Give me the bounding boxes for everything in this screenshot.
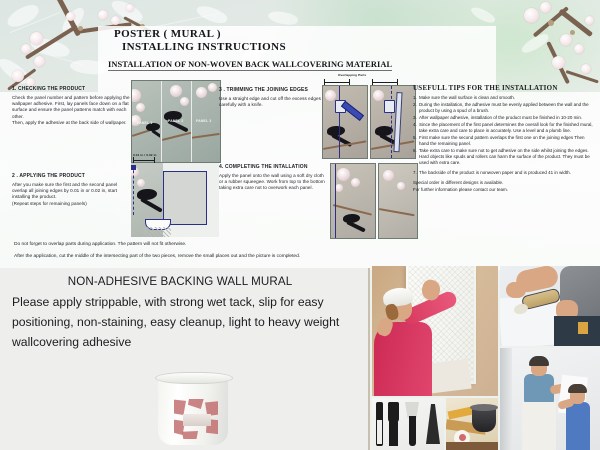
- step-2-body: After you make sure the first and the se…: [12, 182, 128, 207]
- photo-adhesive-mixing: [446, 398, 498, 450]
- tips-heading: USEFULL TIPS FOR THE INSTALLATION: [413, 84, 593, 92]
- step-3-illustration-left: [322, 85, 368, 159]
- step-4-body: Apply the panel onto the wall using a so…: [219, 173, 327, 192]
- step-1-heading: 1. CHECKING THE PRODUCT: [12, 86, 130, 92]
- panel-1-label: PANEL 1: [137, 121, 152, 125]
- photo-woman-hanging-wallpaper: [372, 266, 498, 396]
- adhesive-bucket-icon: [155, 372, 231, 446]
- step-3-illustration-right: [370, 85, 416, 159]
- tips-section: USEFULL TIPS FOR THE INSTALLATION 1.Make…: [413, 84, 593, 193]
- step-3-body: Use a straight edge and cut off the exce…: [219, 96, 323, 109]
- step-3: 3 . TRIMMING THE JOINING EDGES Use a str…: [219, 87, 323, 108]
- note-line-1: Do not forget to overlap parts during ap…: [14, 242, 434, 248]
- step-1: 1. CHECKING THE PRODUCT Check the panel …: [12, 86, 130, 126]
- poster-image: POSTER ( MURAL ) INSTALLING INSTRUCTIONS…: [0, 0, 600, 450]
- photo-man-and-child: [500, 348, 600, 450]
- overlapping-parts-label: Overlapping Parts: [338, 73, 366, 77]
- step-4: 4. COMPLETING THE INTALLATION Apply the …: [219, 164, 327, 192]
- step-2: 2 . APPLYING THE PRODUCT After you make …: [12, 173, 128, 207]
- note-line-2: After the application, cut the middle of…: [14, 254, 574, 260]
- tip-item: 7.The backside of the product is nonwove…: [413, 170, 593, 176]
- tips-list: 1.Make sure the wall surface is clean an…: [413, 95, 593, 176]
- page-subtitle: INSTALLING INSTRUCTIONS: [108, 41, 508, 54]
- step-4-illustration-2: [378, 163, 418, 239]
- tip-item: 6.Take extra care to make sure not to ge…: [413, 148, 593, 167]
- dimension-label: 0.01 in / 0.02 in: [133, 153, 157, 157]
- page-tagline: INSTALLATION OF NON-WOVEN BACK WALLCOVER…: [108, 60, 392, 71]
- step-1-illustration: PANEL 1 PANEL 2 PANEL 3: [131, 80, 221, 163]
- photo-roller-hands: [500, 266, 600, 346]
- step-4-illustration: [330, 163, 376, 239]
- poster-title-block: POSTER ( MURAL ) INSTALLING INSTRUCTIONS…: [108, 28, 508, 72]
- page-title: POSTER ( MURAL ): [108, 28, 508, 41]
- promo-title: NON-ADHESIVE BACKING WALL MURAL: [0, 275, 360, 288]
- tip-item: 1.Make sure the wall surface is clean an…: [413, 95, 593, 101]
- panel-3-label: PANEL 3: [196, 119, 211, 123]
- photo-tools: [372, 398, 444, 450]
- step-1-body: Check the panel number and pattern befor…: [12, 95, 130, 126]
- tip-item: 2.During the installation, the adhesive …: [413, 102, 593, 114]
- step-2-heading: 2 . APPLYING THE PRODUCT: [12, 173, 128, 179]
- step-3-heading: 3 . TRIMMING THE JOINING EDGES: [219, 87, 323, 93]
- tip-item: 3.After wallpaper adhesive, installation…: [413, 115, 593, 121]
- tip-item: 4.Since the placement of the first panel…: [413, 122, 593, 134]
- panel-2-label: PANEL 2: [168, 119, 183, 123]
- smoothing-brush-icon: [388, 402, 399, 424]
- step-4-heading: 4. COMPLETING THE INTALLATION: [219, 164, 327, 170]
- tip-item: 5.First make sure the second pattern ove…: [413, 135, 593, 147]
- promo-body: Please apply strippable, with strong wet…: [12, 292, 362, 352]
- tips-note-2: For further information please contact o…: [413, 187, 593, 193]
- step-2-illustration: [131, 163, 219, 237]
